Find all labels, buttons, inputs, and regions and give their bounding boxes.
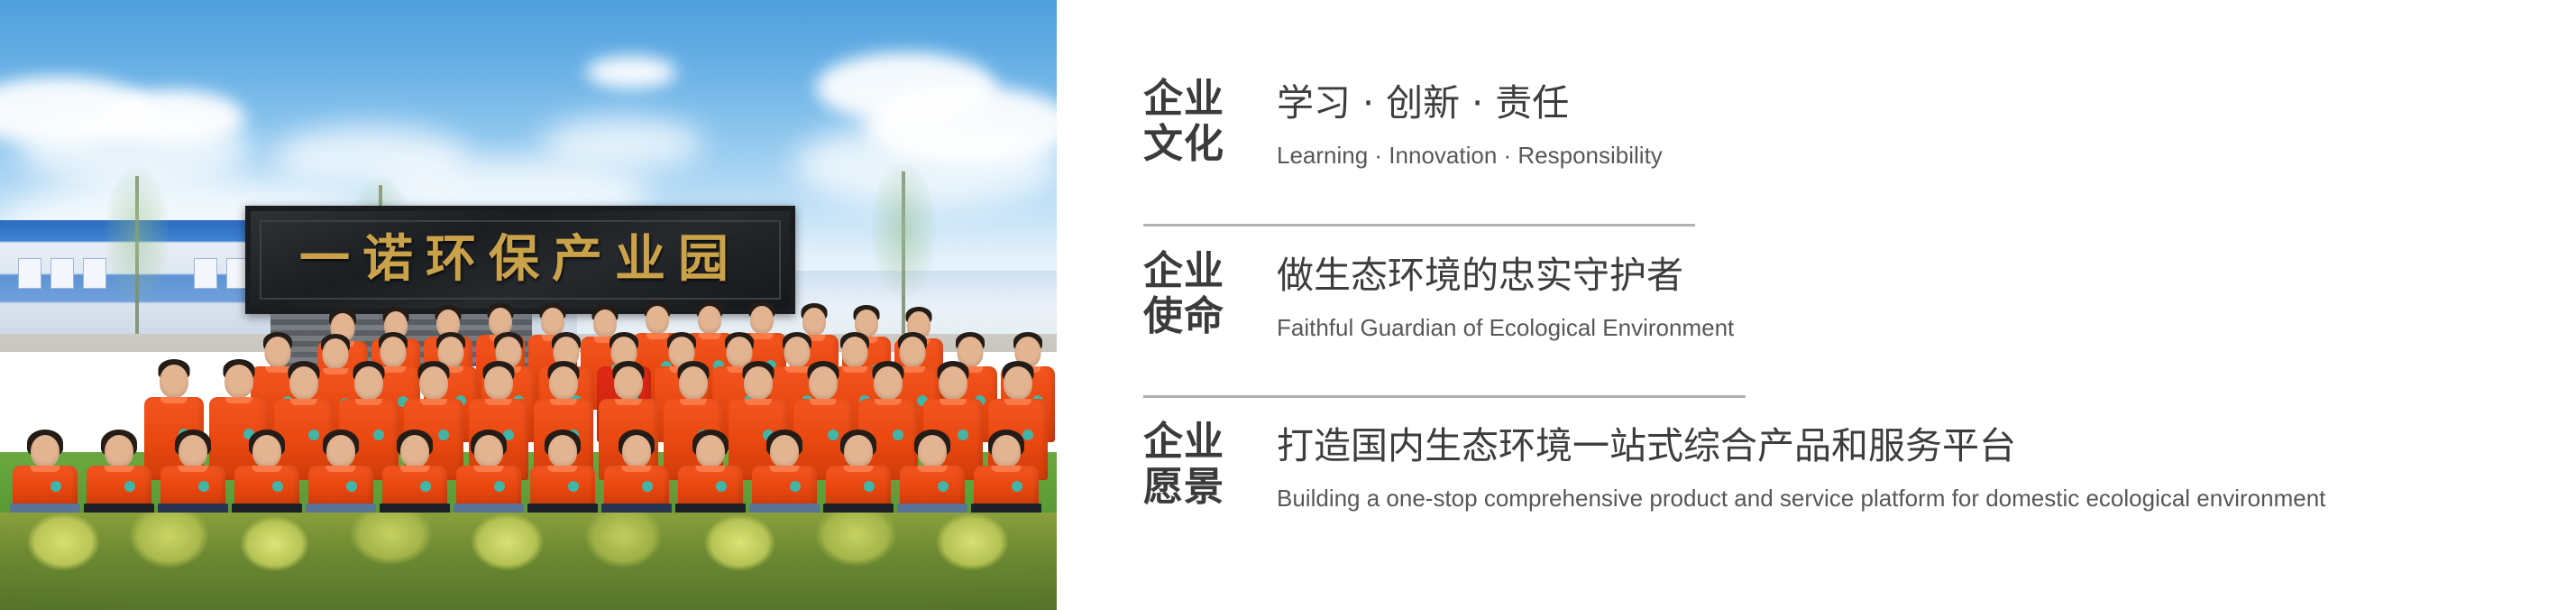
value-label-line2: 愿景	[1143, 465, 1237, 510]
value-headline-en-mission: Faithful Guardian of Ecological Environm…	[1277, 313, 1734, 344]
person	[382, 430, 447, 523]
value-headline-cn-culture: 学习 · 创新 · 责任	[1277, 80, 1663, 126]
value-headline-en-culture: Learning · Innovation · Responsibility	[1277, 141, 1663, 171]
value-label-culture: 企业 文化	[1143, 77, 1237, 166]
corporate-culture-banner: 一诺环保产业园	[0, 0, 2576, 610]
person	[678, 430, 743, 523]
value-label-vision: 企业 愿景	[1143, 420, 1237, 509]
person	[456, 430, 521, 523]
person	[974, 430, 1039, 523]
person	[308, 430, 373, 523]
value-block-vision: 企业 愿景 打造国内生态环境一站式综合产品和服务平台 Building a on…	[1143, 420, 2325, 514]
value-body-culture: 学习 · 创新 · 责任 Learning · Innovation · Res…	[1277, 77, 1663, 171]
staff-crowd	[0, 235, 1057, 532]
value-block-mission: 企业 使命 做生态环境的忠实守护者 Faithful Guardian of E…	[1143, 249, 1734, 344]
section-divider	[1143, 395, 1746, 398]
person	[752, 430, 817, 523]
value-label-mission: 企业 使命	[1143, 249, 1237, 338]
company-group-photo: 一诺环保产业园	[0, 0, 1057, 610]
value-label-line2: 使命	[1143, 294, 1237, 339]
value-headline-cn-vision: 打造国内生态环境一站式综合产品和服务平台	[1277, 423, 2325, 469]
cloud-icon	[586, 56, 676, 88]
person	[530, 430, 595, 523]
values-content-panel: 企业 文化 学习 · 创新 · 责任 Learning · Innovation…	[1057, 0, 2576, 610]
person	[826, 430, 891, 523]
cloud-icon	[108, 90, 243, 144]
value-label-line1: 企业	[1143, 77, 1237, 122]
person	[900, 430, 965, 523]
value-label-line1: 企业	[1143, 249, 1237, 294]
value-label-line1: 企业	[1143, 420, 1237, 465]
value-headline-en-vision: Building a one-stop comprehensive produc…	[1277, 484, 2325, 514]
hedge-row	[0, 513, 1057, 610]
person	[160, 430, 225, 523]
person	[13, 430, 78, 523]
person	[234, 430, 299, 523]
value-body-mission: 做生态环境的忠实守护者 Faithful Guardian of Ecologi…	[1277, 249, 1734, 344]
section-divider	[1143, 224, 1695, 226]
value-body-vision: 打造国内生态环境一站式综合产品和服务平台 Building a one-stop…	[1277, 420, 2325, 514]
person	[604, 430, 669, 523]
value-block-culture: 企业 文化 学习 · 创新 · 责任 Learning · Innovation…	[1143, 77, 1663, 171]
value-label-line2: 文化	[1143, 122, 1237, 167]
person	[87, 430, 151, 523]
value-headline-cn-mission: 做生态环境的忠实守护者	[1277, 253, 1734, 299]
